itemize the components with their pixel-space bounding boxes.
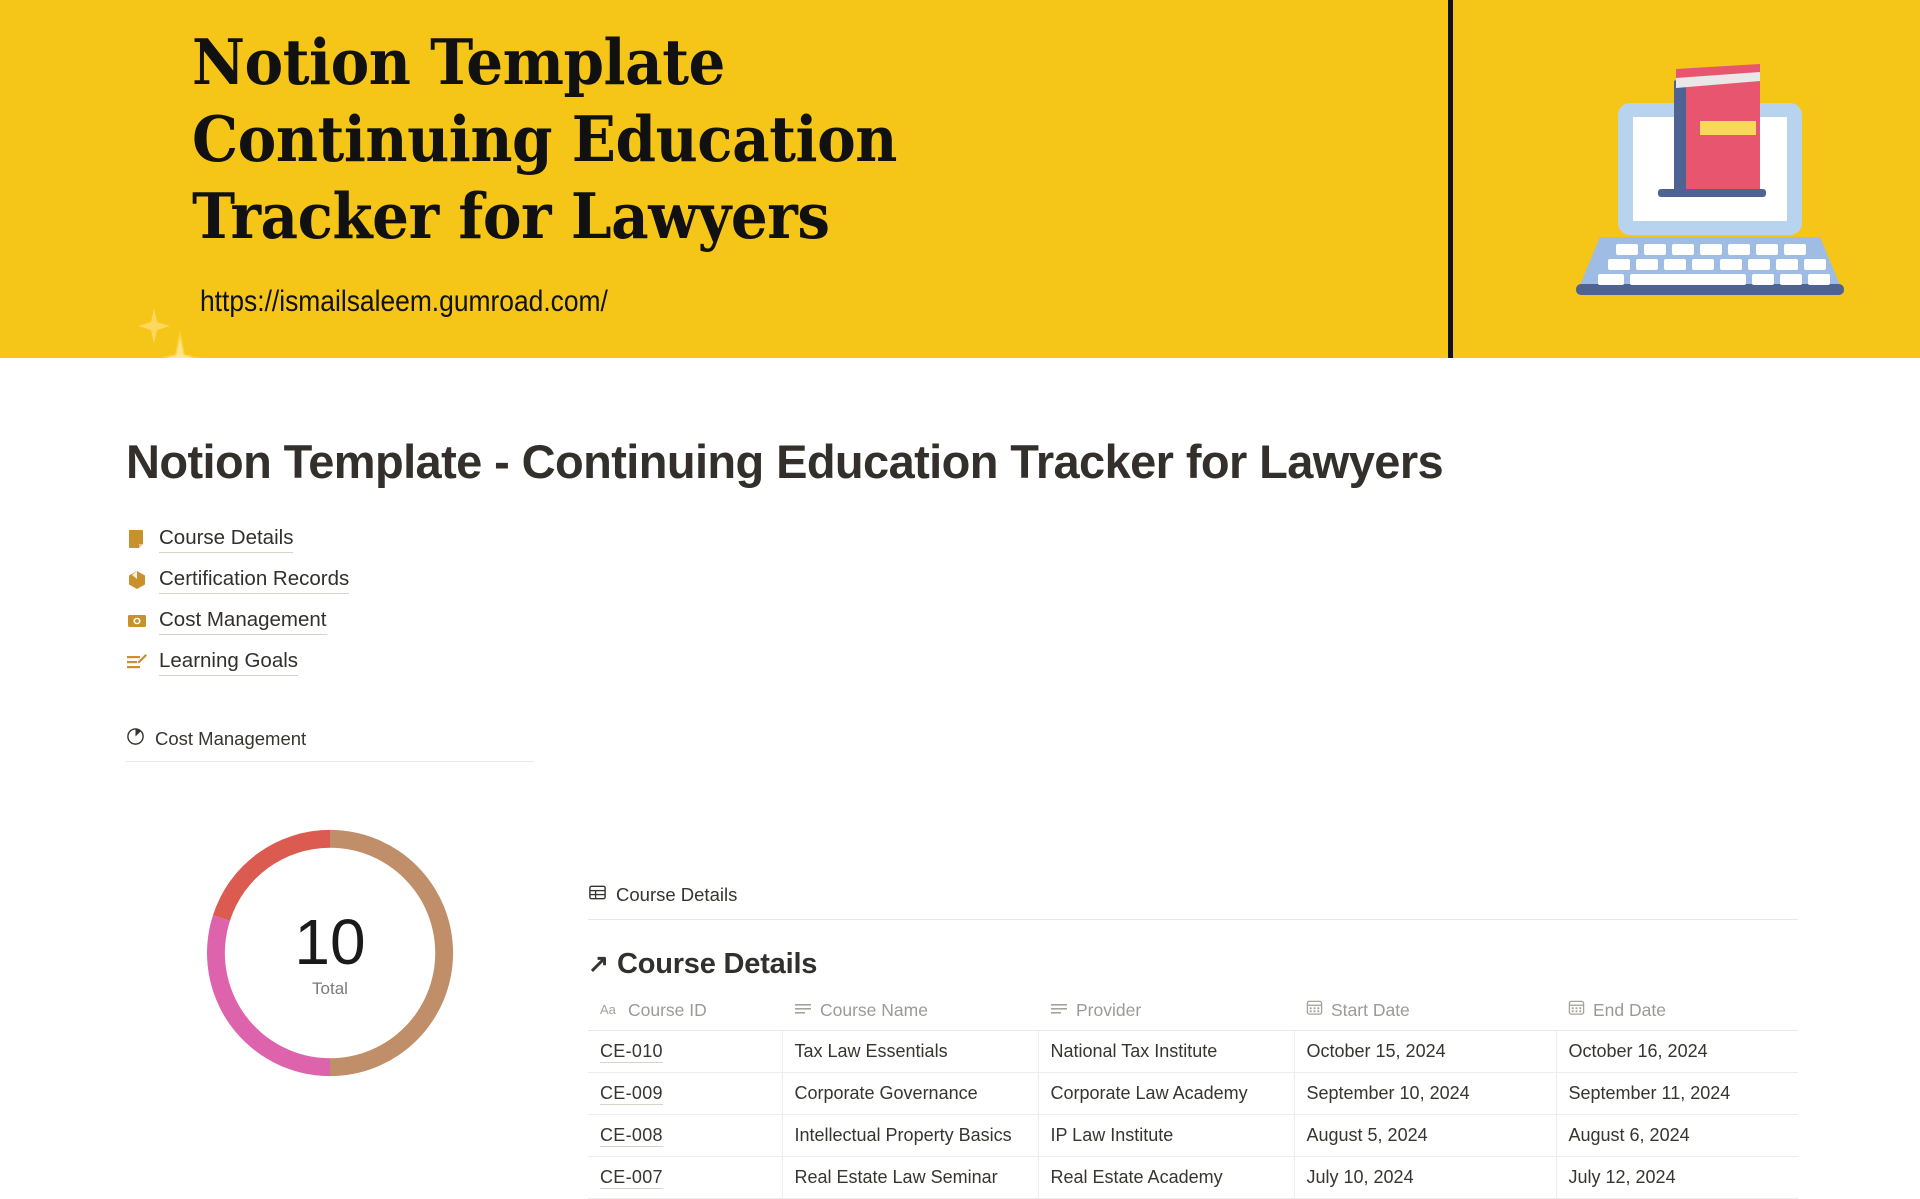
cell-provider[interactable]: Real Estate Academy <box>1038 1157 1294 1199</box>
text-lines-icon <box>1050 1000 1068 1021</box>
table-header: Aa Course ID <box>588 999 1798 1031</box>
cost-management-panel-header: Cost Management <box>126 727 534 762</box>
cell-course-name[interactable]: Real Estate Law Seminar <box>782 1157 1038 1199</box>
donut-svg <box>191 814 469 1092</box>
cell-course-name[interactable]: Corporate Governance <box>782 1073 1038 1115</box>
laptop-with-book-icon <box>1570 45 1850 315</box>
table-header-row: Aa Course ID <box>588 999 1798 1031</box>
hero-banner: Notion Template Continuing Education Tra… <box>0 0 1920 358</box>
cost-donut-chart[interactable]: 10 Total <box>126 813 534 1093</box>
database-title-row[interactable]: ↗ Course Details <box>588 948 1798 981</box>
course-id-link[interactable]: CE-009 <box>600 1083 663 1105</box>
banner-title-line-1: Notion Template <box>192 24 897 101</box>
svg-text:Aa: Aa <box>600 1002 617 1016</box>
course-id-link[interactable]: CE-010 <box>600 1041 663 1063</box>
cell-start-date[interactable]: August 5, 2024 <box>1294 1115 1556 1157</box>
course-id-link[interactable]: CE-007 <box>600 1167 663 1189</box>
course-details-table: Aa Course ID <box>588 999 1798 1199</box>
orange-list-pencil-icon <box>126 651 148 673</box>
calendar-icon <box>1306 999 1323 1021</box>
cell-end-date[interactable]: July 12, 2024 <box>1556 1157 1798 1199</box>
table-grid-icon <box>588 883 607 907</box>
banner-url: https://ismailsaleem.gumroad.com/ <box>200 285 608 319</box>
table-row[interactable]: CE-009 Corporate Governance Corporate La… <box>588 1073 1798 1115</box>
cell-course-name[interactable]: Intellectual Property Basics <box>782 1115 1038 1157</box>
cell-provider[interactable]: National Tax Institute <box>1038 1031 1294 1073</box>
page-title: Notion Template - Continuing Education T… <box>126 434 1443 489</box>
course-id-link[interactable]: CE-008 <box>600 1125 663 1147</box>
sidebar-item-label: Course Details <box>159 524 293 553</box>
cell-provider[interactable]: Corporate Law Academy <box>1038 1073 1294 1115</box>
donut-segment-b <box>207 915 330 1076</box>
sidebar-nav: Course Details Certification Records Cos… <box>126 518 534 682</box>
banner-vertical-divider <box>1448 0 1453 358</box>
calendar-icon <box>1568 999 1585 1021</box>
sparkle-icon <box>128 300 238 358</box>
sidebar-item-course-details[interactable]: Course Details <box>126 518 534 559</box>
database-breadcrumb-label: Course Details <box>616 884 737 906</box>
column-header-label: Start Date <box>1331 1000 1410 1021</box>
sidebar-item-label: Certification Records <box>159 565 349 594</box>
cell-course-id[interactable]: CE-008 <box>588 1115 782 1157</box>
database-title: Course Details <box>617 948 817 981</box>
cell-end-date[interactable]: October 16, 2024 <box>1556 1031 1798 1073</box>
sidebar-item-certification-records[interactable]: Certification Records <box>126 559 534 600</box>
sidebar-item-label: Cost Management <box>159 606 327 635</box>
table-body: CE-010 Tax Law Essentials National Tax I… <box>588 1031 1798 1199</box>
cost-management-breadcrumb-label: Cost Management <box>155 728 306 750</box>
column-header-provider[interactable]: Provider <box>1038 999 1294 1031</box>
text-lines-icon <box>794 1000 812 1021</box>
course-details-database: Course Details ↗ Course Details Aa <box>588 883 1798 1199</box>
table-row[interactable]: CE-007 Real Estate Law Seminar Real Esta… <box>588 1157 1798 1199</box>
cell-course-id[interactable]: CE-010 <box>588 1031 782 1073</box>
table-row[interactable]: CE-010 Tax Law Essentials National Tax I… <box>588 1031 1798 1073</box>
arrow-up-right-icon: ↗ <box>588 952 609 977</box>
column-header-label: Provider <box>1076 1000 1141 1021</box>
cell-start-date[interactable]: October 15, 2024 <box>1294 1031 1556 1073</box>
cell-course-id[interactable]: CE-007 <box>588 1157 782 1199</box>
cell-provider[interactable]: IP Law Institute <box>1038 1115 1294 1157</box>
column-header-end-date[interactable]: End Date <box>1556 999 1798 1031</box>
donut-segment-a <box>330 830 453 1076</box>
column-header-course-name[interactable]: Course Name <box>782 999 1038 1031</box>
cell-course-name[interactable]: Tax Law Essentials <box>782 1031 1038 1073</box>
column-header-course-id[interactable]: Aa Course ID <box>588 999 782 1031</box>
cell-end-date[interactable]: September 11, 2024 <box>1556 1073 1798 1115</box>
banner-title-line-3: Tracker for Lawyers <box>192 178 897 255</box>
cell-course-id[interactable]: CE-009 <box>588 1073 782 1115</box>
orange-hexagon-icon <box>126 569 148 591</box>
sidebar-item-label: Learning Goals <box>159 647 298 676</box>
column-header-start-date[interactable]: Start Date <box>1294 999 1556 1031</box>
sidebar-item-learning-goals[interactable]: Learning Goals <box>126 641 534 682</box>
column-header-label: End Date <box>1593 1000 1666 1021</box>
banner-title-line-2: Continuing Education <box>192 101 897 178</box>
title-aa-icon: Aa <box>600 1000 620 1021</box>
donut-segment-c <box>213 830 330 921</box>
sidebar-item-cost-management[interactable]: Cost Management <box>126 600 534 641</box>
banner-title: Notion Template Continuing Education Tra… <box>192 24 897 255</box>
cell-start-date[interactable]: September 10, 2024 <box>1294 1073 1556 1115</box>
cell-end-date[interactable]: August 6, 2024 <box>1556 1115 1798 1157</box>
orange-money-icon <box>126 610 148 632</box>
cell-start-date[interactable]: July 10, 2024 <box>1294 1157 1556 1199</box>
database-breadcrumb[interactable]: Course Details <box>588 883 1798 920</box>
column-header-label: Course ID <box>628 1000 707 1021</box>
column-header-label: Course Name <box>820 1000 928 1021</box>
orange-book-icon <box>126 528 148 550</box>
cost-management-breadcrumb[interactable]: Cost Management <box>126 727 534 762</box>
pie-chart-icon <box>126 727 145 751</box>
page-body: Notion Template - Continuing Education T… <box>0 358 1920 1199</box>
table-row[interactable]: CE-008 Intellectual Property Basics IP L… <box>588 1115 1798 1157</box>
